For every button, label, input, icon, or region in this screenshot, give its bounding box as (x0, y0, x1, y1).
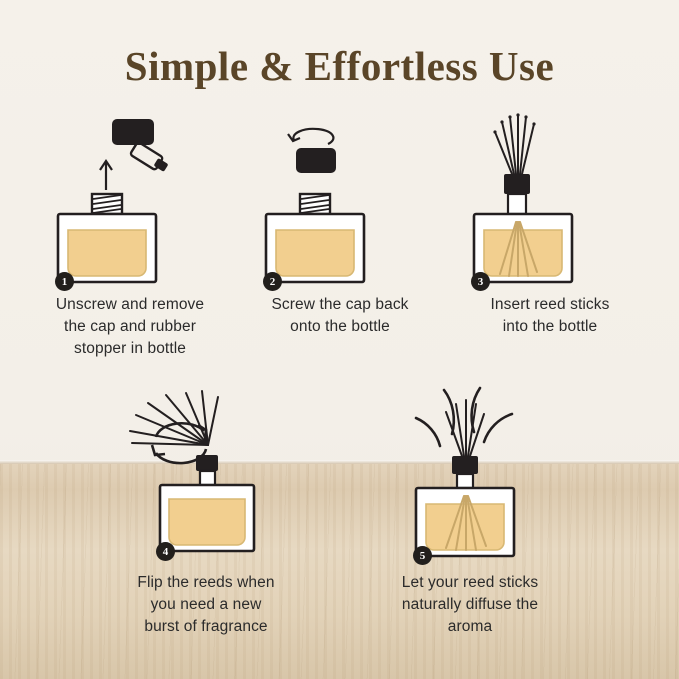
step-4: 4 Flip the reeds when you need a new bur… (108, 385, 304, 638)
step-3-caption: Insert reed sticks into the bottle (452, 294, 648, 338)
step-4-caption-line-2: you need a new (108, 594, 304, 616)
step-1-illustration: 1 (32, 112, 228, 290)
wood-grain-texture (0, 464, 679, 679)
step-1-caption-line-1: Unscrew and remove (32, 294, 228, 316)
step-2-number: 2 (270, 276, 276, 288)
bottle-reeds-inserted-icon (452, 112, 648, 290)
step-3-number-badge: 3 (471, 272, 490, 291)
step-3-number: 3 (478, 276, 484, 288)
step-1-caption-line-3: stopper in bottle (32, 338, 228, 360)
step-5-caption-line-3: aroma (372, 616, 568, 638)
step-5-caption-line-1: Let your reed sticks (372, 572, 568, 594)
step-4-caption-line-3: burst of fragrance (108, 616, 304, 638)
step-3-caption-line-2: into the bottle (452, 316, 648, 338)
step-1-caption: Unscrew and remove the cap and rubber st… (32, 294, 228, 360)
step-3-illustration: 3 (452, 112, 648, 290)
step-2-number-badge: 2 (263, 272, 282, 291)
step-2-caption: Screw the cap back onto the bottle (242, 294, 438, 338)
step-5-caption-line-2: naturally diffuse the (372, 594, 568, 616)
bottle-cap-screw-icon (242, 112, 438, 290)
step-3-caption-line-1: Insert reed sticks (452, 294, 648, 316)
step-5-illustration: 5 (372, 372, 568, 570)
step-4-caption: Flip the reeds when you need a new burst… (108, 572, 304, 638)
step-2-caption-line-1: Screw the cap back (242, 294, 438, 316)
bottle-diffusing-aroma-icon (372, 372, 568, 570)
step-4-number: 4 (163, 546, 169, 558)
step-3: 3 Insert reed sticks into the bottle (452, 112, 648, 338)
step-2: 2 Screw the cap back onto the bottle (242, 112, 438, 338)
step-5-caption: Let your reed sticks naturally diffuse t… (372, 572, 568, 638)
step-1-caption-line-2: the cap and rubber (32, 316, 228, 338)
step-4-caption-line-1: Flip the reeds when (108, 572, 304, 594)
step-5: 5 Let your reed sticks naturally diffuse… (372, 372, 568, 638)
step-5-number: 5 (420, 550, 426, 562)
step-4-illustration: 4 (108, 385, 304, 570)
step-5-number-badge: 5 (413, 546, 432, 565)
step-1-number-badge: 1 (55, 272, 74, 291)
step-1: 1 Unscrew and remove the cap and rubber … (32, 112, 228, 360)
wood-edge-highlight (0, 460, 679, 464)
bottle-cap-removed-icon (32, 112, 228, 290)
step-4-number-badge: 4 (156, 542, 175, 561)
step-1-number: 1 (62, 276, 68, 288)
page-title: Simple & Effortless Use (0, 42, 679, 90)
step-2-illustration: 2 (242, 112, 438, 290)
step-2-caption-line-2: onto the bottle (242, 316, 438, 338)
infographic-page: Simple & Effortless Use (0, 0, 679, 679)
bottle-reeds-flip-icon (108, 385, 304, 570)
